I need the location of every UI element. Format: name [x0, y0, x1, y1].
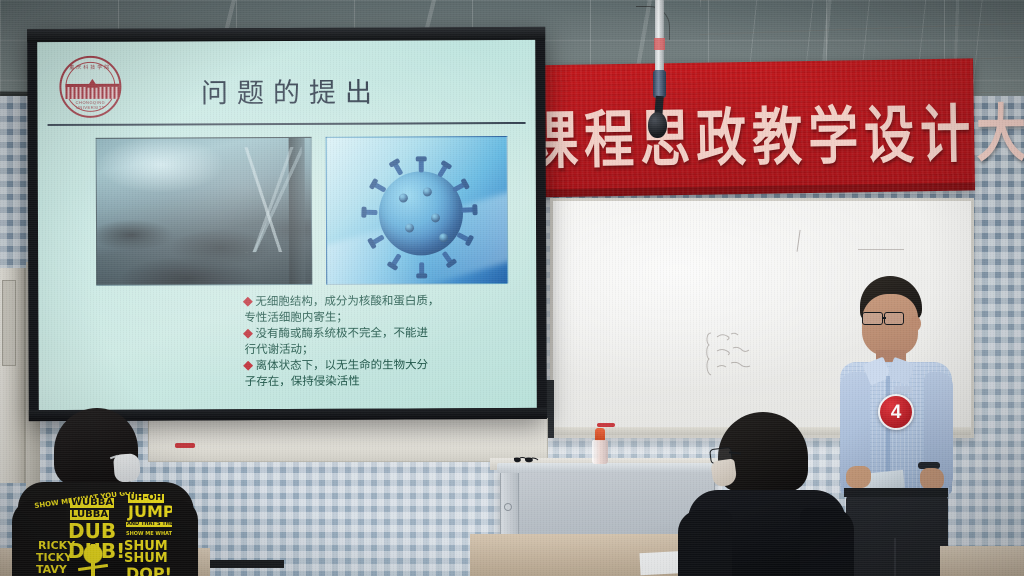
slide-title: 问题的提出 [37, 70, 535, 111]
bullet-text: 专性活细胞内寄生； [244, 310, 348, 324]
banner-title-text: 课程思政教学设计大赛 [527, 84, 998, 181]
presenter-trousers [846, 494, 948, 576]
student-left: SHOW ME WHAT YOU GOT WUBBA LUBBA DUB DUB… [18, 408, 194, 576]
student-desk-right [940, 546, 1024, 576]
slide-historical-photo [96, 137, 313, 286]
tshirt-graphic-print: SHOW ME WHAT YOU GOT WUBBA LUBBA DUB DUB… [32, 492, 172, 576]
whiteboard-marker[interactable] [597, 423, 615, 427]
bullet-line: 行代谢活动； [245, 340, 527, 357]
presenter-glasses-left-lens [862, 312, 883, 325]
bullet-text: 离体状态下，以无生命的生物大分 [256, 357, 429, 372]
contestant-number-badge: 4 [878, 394, 914, 430]
bullet-line: 子存在，保持侵染活性 [245, 372, 527, 389]
microphone-joint [653, 70, 666, 98]
presenter-left-hand [846, 466, 871, 488]
bullet-text: 行代谢活动； [245, 342, 314, 356]
bullet-line: 离体状态下，以无生命的生物大分 [245, 356, 527, 373]
presenter-leg-seam [894, 538, 896, 576]
water-bottle [592, 428, 608, 464]
microphone-boom-pole [655, 0, 664, 72]
presenter-glasses-right-lens [884, 312, 904, 325]
tee-word: AND THAT'S THE WAYTHE NEWS GOES [126, 522, 172, 527]
tee-character-graphic [76, 544, 110, 576]
virus-particle-icon [379, 171, 463, 255]
eyeglasses-icon [513, 456, 539, 464]
tee-word: TAVY [36, 564, 67, 575]
slide-bullet-list: 无细胞结构，成分为核酸和蛋白质， 专性活细胞内寄生； 没有酶或酶系统极不完全，不… [244, 292, 526, 389]
student-left-face-mask [113, 453, 141, 483]
tee-word: TICKY [36, 552, 72, 563]
tee-word: SHOW ME WHAT YOU GOT [126, 532, 172, 537]
tee-word: DUB [68, 521, 116, 541]
bullet-diamond-icon [243, 361, 253, 371]
lectern-knob[interactable] [504, 503, 512, 511]
photo-tree-trunk [289, 138, 306, 284]
hanging-microphone-icon [648, 112, 667, 138]
presenter-right-hand [920, 468, 944, 490]
presenter-belt [844, 488, 948, 497]
wall-panel-below-screen [148, 418, 548, 462]
student-center [688, 412, 846, 576]
tee-word: DOP! [126, 566, 172, 576]
bullet-diamond-icon [243, 297, 253, 307]
bullet-diamond-icon [243, 329, 253, 339]
microphone-tag [654, 38, 665, 50]
student-center-shoulder-left [678, 510, 732, 576]
bottle-body [592, 440, 608, 464]
tee-word: WUBBA [70, 498, 114, 508]
slide-title-divider [48, 122, 526, 126]
competition-banner: 课程思政教学设计大赛 [515, 58, 975, 197]
presenter-glasses-bridge [882, 317, 886, 319]
whiteboard-faint-handwriting [703, 329, 773, 381]
slide-coronavirus-image [326, 136, 509, 285]
lectern-top-surface [497, 463, 720, 473]
bullet-text: 没有酶或酶系统极不完全，不能进 [255, 325, 428, 340]
whiteboard-erased-mark-2 [858, 249, 904, 250]
projector-screen: 重庆科技学院 CHONGQING UNIVERSITY 问题的提出 [27, 27, 547, 421]
student-center-shoulder-right [800, 508, 854, 576]
whiteboard-erased-mark-1 [797, 230, 818, 254]
tee-word: JUMP [128, 504, 172, 520]
badge-number: 4 [891, 403, 902, 422]
bullet-text: 子存在，保持侵染活性 [245, 374, 360, 389]
tee-word: RICKY [38, 540, 75, 551]
bullet-line: 没有酶或酶系统极不完全，不能进 [244, 324, 526, 341]
presenter-ear [910, 316, 921, 331]
bullet-line: 无细胞结构，成分为核酸和蛋白质， [244, 292, 526, 309]
presentation-slide: 重庆科技学院 CHONGQING UNIVERSITY 问题的提出 [37, 40, 537, 410]
seal-top-text: 重庆科技学院 [61, 64, 119, 71]
bullet-line: 专性活细胞内寄生； [244, 308, 526, 325]
presenter-badge-tab [894, 386, 912, 393]
classroom-photo-scene: 课程思政教学设计大赛 重庆科技学院 CHONGQING UNIVER [0, 0, 1024, 576]
cabinet-panel [2, 280, 16, 366]
bullet-text: 无细胞结构，成分为核酸和蛋白质， [255, 293, 439, 308]
